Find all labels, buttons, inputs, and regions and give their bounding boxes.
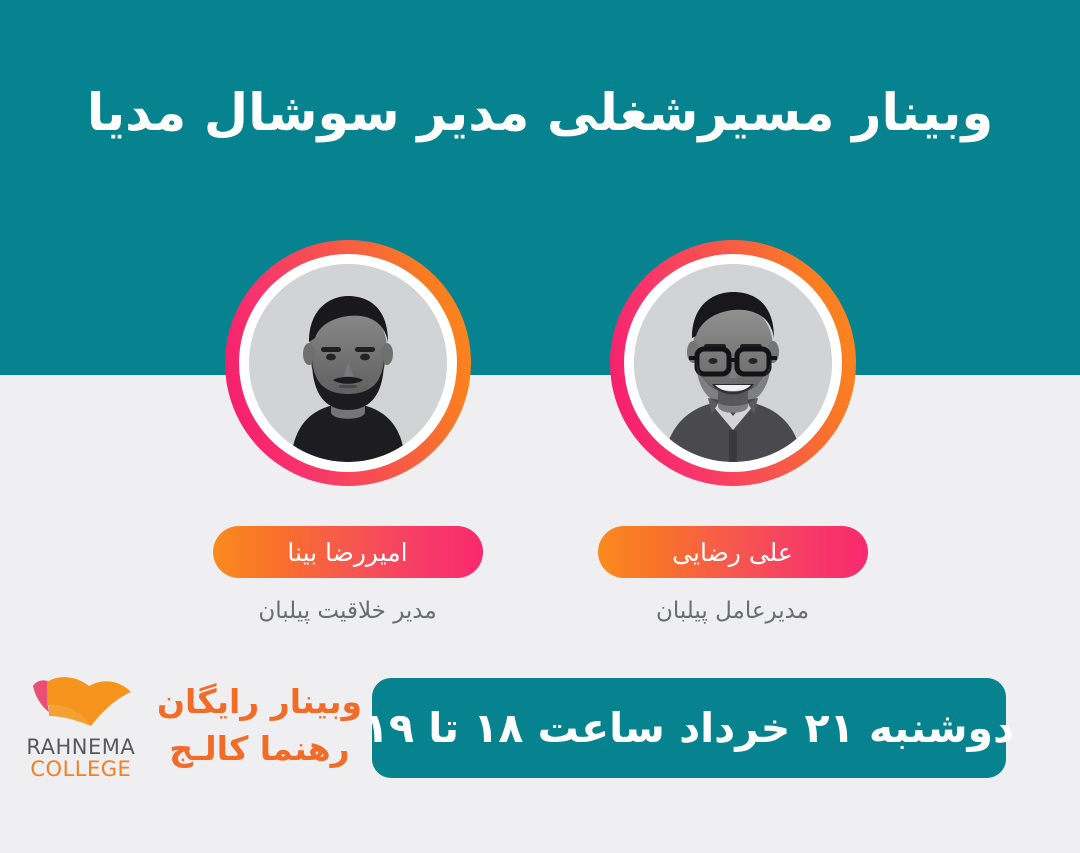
avatar: [249, 264, 447, 462]
brand-logo-block: وبینار رایگان رهنما کالـج RAHNEMA COLLEG…: [23, 672, 362, 781]
speaker-role: مدیرعامل پیلبان: [656, 598, 809, 624]
avatar: [634, 264, 832, 462]
speaker-card-amirreza-bina: امیررضا بینا مدیر خلاقیت پیلبان: [188, 240, 508, 624]
speaker-role: مدیر خلاقیت پیلبان: [258, 598, 436, 624]
avatar-gradient-ring: [610, 240, 856, 486]
tagline-line-1: وبینار رایگان: [157, 679, 362, 726]
speaker-card-ali-rezaei: علی رضایی مدیرعامل پیلبان: [573, 240, 893, 624]
page-title: وبینار مسیرشغلی مدیر سوشال مدیا: [0, 82, 1080, 146]
rahnema-college-logo: RAHNEMA COLLEGE: [23, 672, 139, 781]
logo-wordmark: RAHNEMA COLLEGE: [26, 736, 135, 781]
poster-footer: وبینار رایگان رهنما کالـج RAHNEMA COLLEG…: [0, 660, 1080, 810]
logo-word-rahnema: RAHNEMA: [26, 736, 135, 758]
avatar-gradient-ring: [225, 240, 471, 486]
speakers-row: امیررضا بینا مدیر خلاقیت پیلبان: [0, 240, 1080, 620]
date-time-banner: دوشنبه ۲۱ خرداد ساعت ۱۸ تا ۱۹: [372, 678, 1006, 778]
open-book-logo-icon: [25, 672, 137, 734]
webinar-poster: وبینار مسیرشغلی مدیر سوشال مدیا: [0, 0, 1080, 853]
speaker-name-badge: امیررضا بینا: [213, 526, 483, 578]
avatar-white-ring: [239, 254, 457, 472]
avatar-white-ring: [624, 254, 842, 472]
tagline-line-2: رهنما کالـج: [157, 726, 362, 773]
logo-word-college: COLLEGE: [26, 758, 135, 780]
free-webinar-tagline: وبینار رایگان رهنما کالـج: [157, 679, 362, 773]
speaker-name-badge: علی رضایی: [598, 526, 868, 578]
